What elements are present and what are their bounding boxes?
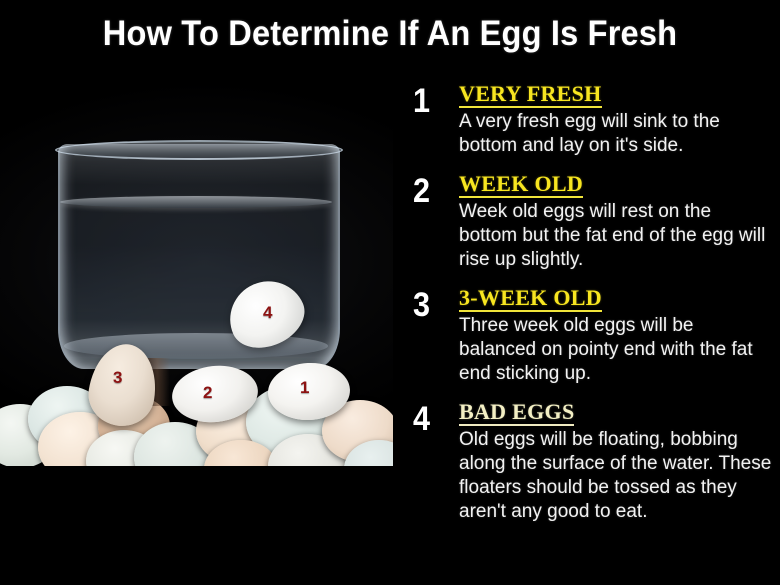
list-item-heading: BAD EGGS (459, 400, 574, 426)
glass-bowl (58, 144, 336, 369)
list-item-number: 3 (413, 286, 444, 324)
list-item-heading: WEEK OLD (459, 172, 583, 198)
egg-label-2: 2 (203, 383, 212, 403)
list-item-number: 2 (413, 172, 444, 210)
egg-label-1: 1 (300, 378, 309, 398)
page-title: How To Determine If An Egg Is Fresh (27, 14, 752, 54)
list-item-body: Three week old eggs will be balanced on … (459, 314, 773, 386)
list-item-three-week-old: 3 3-WEEK OLD Three week old eggs will be… (413, 286, 773, 386)
infographic-page: How To Determine If An Egg Is Fresh (0, 0, 780, 585)
list-item-body: Old eggs will be floating, bobbing along… (459, 428, 773, 524)
list-item-week-old: 2 WEEK OLD Week old eggs will rest on th… (413, 172, 773, 272)
list-item-bad-eggs: 4 BAD EGGS Old eggs will be floating, bo… (413, 400, 773, 524)
egg-float-test-photo: 4 3 2 1 (0, 86, 393, 466)
list-item-body: A very fresh egg will sink to the bottom… (459, 110, 773, 158)
list-item-number: 1 (413, 82, 444, 120)
list-item-heading: 3-WEEK OLD (459, 286, 602, 312)
freshness-list: 1 VERY FRESH A very fresh egg will sink … (413, 82, 773, 538)
egg-label-4: 4 (263, 303, 272, 323)
water-surface-line (60, 196, 332, 208)
bowl-rim (55, 140, 343, 160)
egg-label-3: 3 (113, 368, 122, 388)
list-item-body: Week old eggs will rest on the bottom bu… (459, 200, 773, 272)
list-item-heading: VERY FRESH (459, 82, 602, 108)
list-item-very-fresh: 1 VERY FRESH A very fresh egg will sink … (413, 82, 773, 158)
list-item-number: 4 (413, 400, 444, 438)
